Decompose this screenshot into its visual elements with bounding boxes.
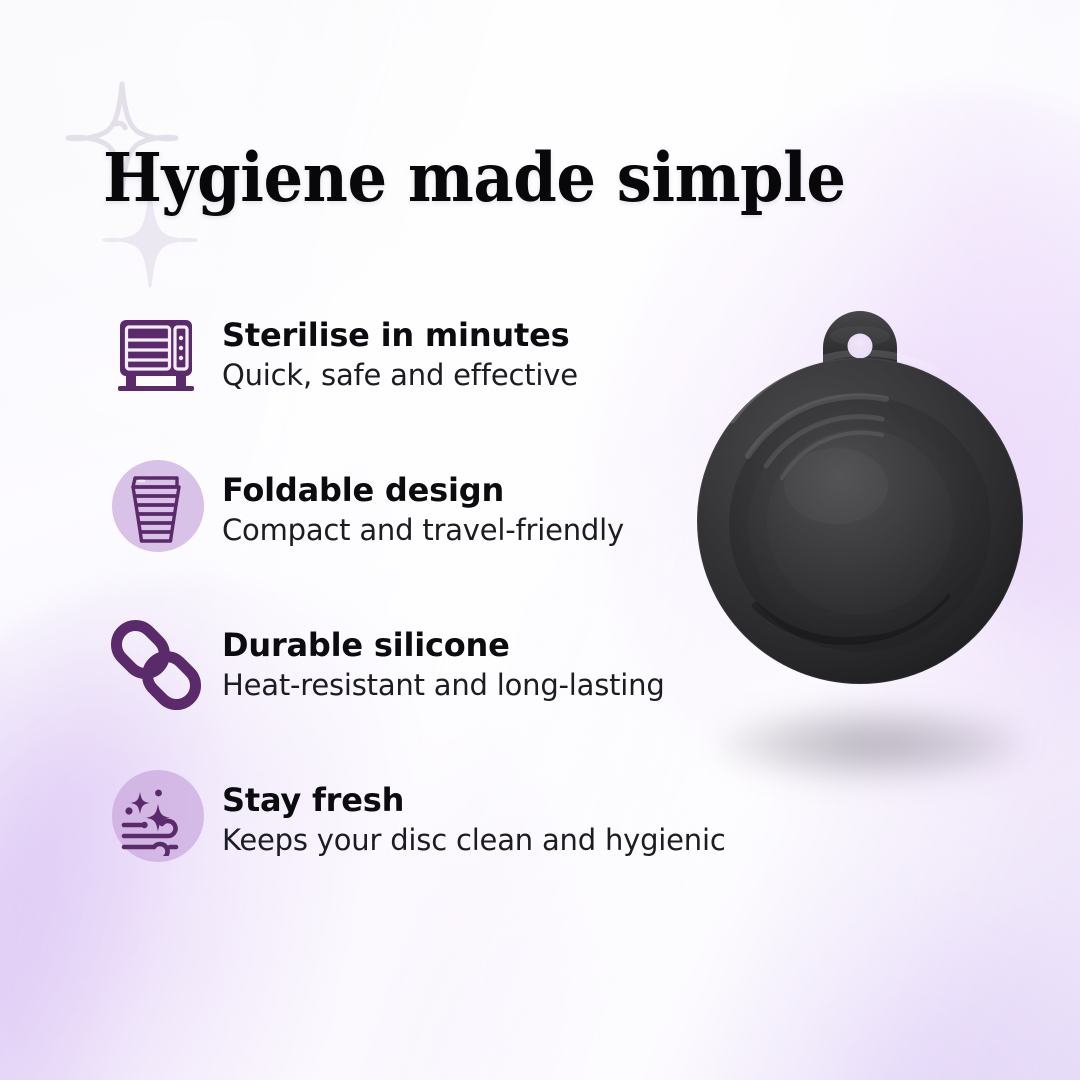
- feature-title: Foldable design: [222, 473, 624, 509]
- page-title: Hygiene made simple: [103, 143, 846, 213]
- product-drop-shadow: [718, 706, 1028, 782]
- feature-text-durable: Durable silicone Heat-resistant and long…: [222, 628, 665, 703]
- product-image: [686, 296, 1034, 696]
- feature-subtitle: Quick, safe and effective: [222, 358, 578, 393]
- promo-graphic: Hygiene made simple: [0, 0, 1080, 1080]
- feature-subtitle: Keeps your disc clean and hygienic: [222, 823, 726, 858]
- feature-title: Stay fresh: [222, 783, 726, 819]
- feature-text-sterilise: Sterilise in minutes Quick, safe and eff…: [222, 318, 578, 393]
- feature-subtitle: Heat-resistant and long-lasting: [222, 668, 665, 703]
- sterilizer-icon: [104, 303, 208, 407]
- feature-subtitle: Compact and travel-friendly: [222, 513, 624, 548]
- feature-list: Sterilise in minutes Quick, safe and eff…: [104, 303, 784, 872]
- chain-link-icon: [104, 613, 208, 717]
- feature-text-stay-fresh: Stay fresh Keeps your disc clean and hyg…: [222, 783, 726, 858]
- feature-row-foldable: Foldable design Compact and travel-frien…: [104, 458, 784, 562]
- feature-row-sterilise: Sterilise in minutes Quick, safe and eff…: [104, 303, 784, 407]
- feature-title: Durable silicone: [222, 628, 665, 664]
- feature-text-foldable: Foldable design Compact and travel-frien…: [222, 473, 624, 548]
- collapsible-cup-icon: [104, 458, 208, 562]
- feature-row-stay-fresh: Stay fresh Keeps your disc clean and hyg…: [104, 768, 784, 872]
- feature-row-durable: Durable silicone Heat-resistant and long…: [104, 613, 784, 717]
- sparkle-wind-icon: [104, 768, 208, 872]
- feature-title: Sterilise in minutes: [222, 318, 578, 354]
